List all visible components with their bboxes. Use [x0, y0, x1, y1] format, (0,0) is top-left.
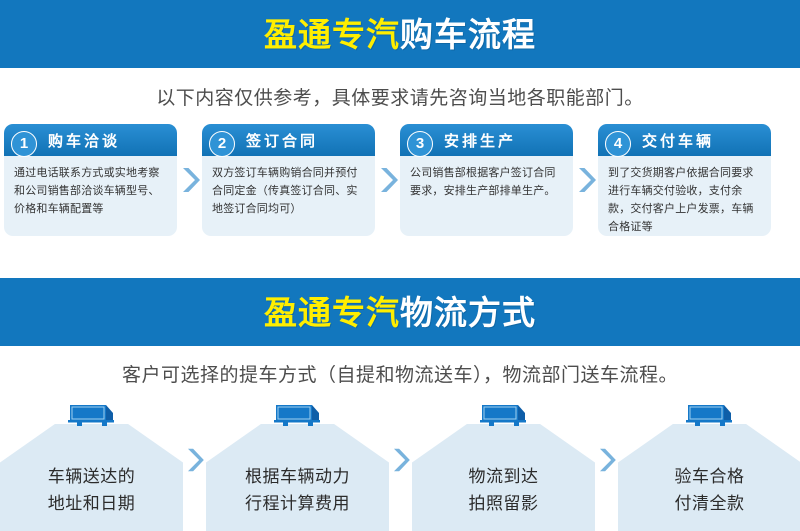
purchase-banner-title: 盈通专汽购车流程 [264, 18, 536, 51]
step-description: 通过电话联系方式或实地考察和公司销售部洽谈车辆型号、价格和车辆配置等 [14, 164, 167, 218]
logistics-banner-subject: 物流方式 [400, 294, 536, 331]
delivery-truck-icon [478, 402, 530, 428]
logistics-step-line2: 地址和日期 [0, 490, 183, 517]
purchase-step-card[interactable]: 1 购车洽谈 通过电话联系方式或实地考察和公司销售部洽谈车辆型号、价格和车辆配置… [4, 124, 177, 236]
delivery-truck-icon [272, 402, 324, 428]
purchase-steps-row: 1 购车洽谈 通过电话联系方式或实地考察和公司销售部洽谈车辆型号、价格和车辆配置… [0, 124, 800, 246]
chevron-right-icon [183, 400, 206, 531]
purchase-banner: 盈通专汽购车流程 [0, 0, 800, 68]
step-number-badge: 4 [605, 131, 631, 157]
logistics-step-line1: 根据车辆动力 [206, 463, 389, 490]
purchase-subtitle: 以下内容仅供参考，具体要求请先咨询当地各职能部门。 [156, 83, 644, 110]
chevron-right-icon [389, 400, 412, 531]
purchase-banner-subject: 购车流程 [400, 16, 536, 53]
logistics-step-line1: 验车合格 [618, 463, 800, 490]
purchase-step-body: 通过电话联系方式或实地考察和公司销售部洽谈车辆型号、价格和车辆配置等 [4, 150, 177, 236]
logistics-step-line2: 行程计算费用 [206, 490, 389, 517]
step-description: 公司销售部根据客户签订合同要求，安排生产部排单生产。 [410, 164, 563, 200]
logistics-step-line1: 车辆送达的 [0, 463, 183, 490]
purchase-step-card[interactable]: 4 交付车辆 到了交货期客户依据合同要求进行车辆交付验收，支付余款，交付客户上户… [598, 124, 771, 236]
purchase-step-header: 2 签订合同 [202, 124, 375, 156]
logistics-subtitle: 客户可选择的提车方式（自提和物流送车），物流部门送车流程。 [122, 360, 678, 387]
purchase-step-header: 3 安排生产 [400, 124, 573, 156]
purchase-step-card[interactable]: 2 签订合同 双方签订车辆购销合同并预付合同定金（传真签订合同、实地签订合同均可… [202, 124, 375, 236]
purchase-step-body: 公司销售部根据客户签订合同要求，安排生产部排单生产。 [400, 150, 573, 236]
purchase-step-body: 到了交货期客户依据合同要求进行车辆交付验收，支付余款，交付客户上户发票，车辆合格… [598, 150, 771, 236]
purchase-step-header: 4 交付车辆 [598, 124, 771, 156]
section-divider [0, 246, 800, 278]
logistics-step-text: 物流到达 拍照留影 [412, 463, 595, 517]
step-title: 交付车辆 [642, 130, 714, 151]
logistics-step-card[interactable]: 物流到达 拍照留影 [412, 400, 595, 531]
step-description: 双方签订车辆购销合同并预付合同定金（传真签订合同、实地签订合同均可） [212, 164, 365, 218]
logistics-step-line2: 付清全款 [618, 490, 800, 517]
step-number-badge: 3 [407, 131, 433, 157]
step-title: 安排生产 [444, 130, 516, 151]
logistics-step-text: 根据车辆动力 行程计算费用 [206, 463, 389, 517]
purchase-subtitle-container: 以下内容仅供参考，具体要求请先咨询当地各职能部门。 [0, 68, 800, 124]
purchase-step-body: 双方签订车辆购销合同并预付合同定金（传真签订合同、实地签订合同均可） [202, 150, 375, 236]
chevron-right-icon [177, 124, 202, 236]
brand-name: 盈通专汽 [264, 294, 400, 331]
step-number-badge: 2 [209, 131, 235, 157]
step-title: 签订合同 [246, 130, 318, 151]
logistics-step-card[interactable]: 车辆送达的 地址和日期 [0, 400, 183, 531]
logistics-step-card[interactable]: 验车合格 付清全款 [618, 400, 800, 531]
brand-name: 盈通专汽 [264, 16, 400, 53]
purchase-step-header: 1 购车洽谈 [4, 124, 177, 156]
delivery-truck-icon [684, 402, 736, 428]
delivery-truck-icon [66, 402, 118, 428]
logistics-banner-title: 盈通专汽物流方式 [264, 296, 536, 329]
chevron-right-icon [573, 124, 598, 236]
logistics-step-line2: 拍照留影 [412, 490, 595, 517]
step-number-badge: 1 [11, 131, 37, 157]
logistics-step-text: 验车合格 付清全款 [618, 463, 800, 517]
logistics-step-line1: 物流到达 [412, 463, 595, 490]
logistics-step-card[interactable]: 根据车辆动力 行程计算费用 [206, 400, 389, 531]
logistics-banner: 盈通专汽物流方式 [0, 278, 800, 346]
logistics-step-text: 车辆送达的 地址和日期 [0, 463, 183, 517]
chevron-right-icon [595, 400, 618, 531]
logistics-subtitle-container: 客户可选择的提车方式（自提和物流送车），物流部门送车流程。 [0, 346, 800, 400]
chevron-right-icon [375, 124, 400, 236]
purchase-step-card[interactable]: 3 安排生产 公司销售部根据客户签订合同要求，安排生产部排单生产。 [400, 124, 573, 236]
step-title: 购车洽谈 [48, 130, 120, 151]
logistics-steps-row: 车辆送达的 地址和日期 根据车辆动力 行程计算费用 [0, 400, 800, 531]
step-description: 到了交货期客户依据合同要求进行车辆交付验收，支付余款，交付客户上户发票，车辆合格… [608, 164, 761, 236]
